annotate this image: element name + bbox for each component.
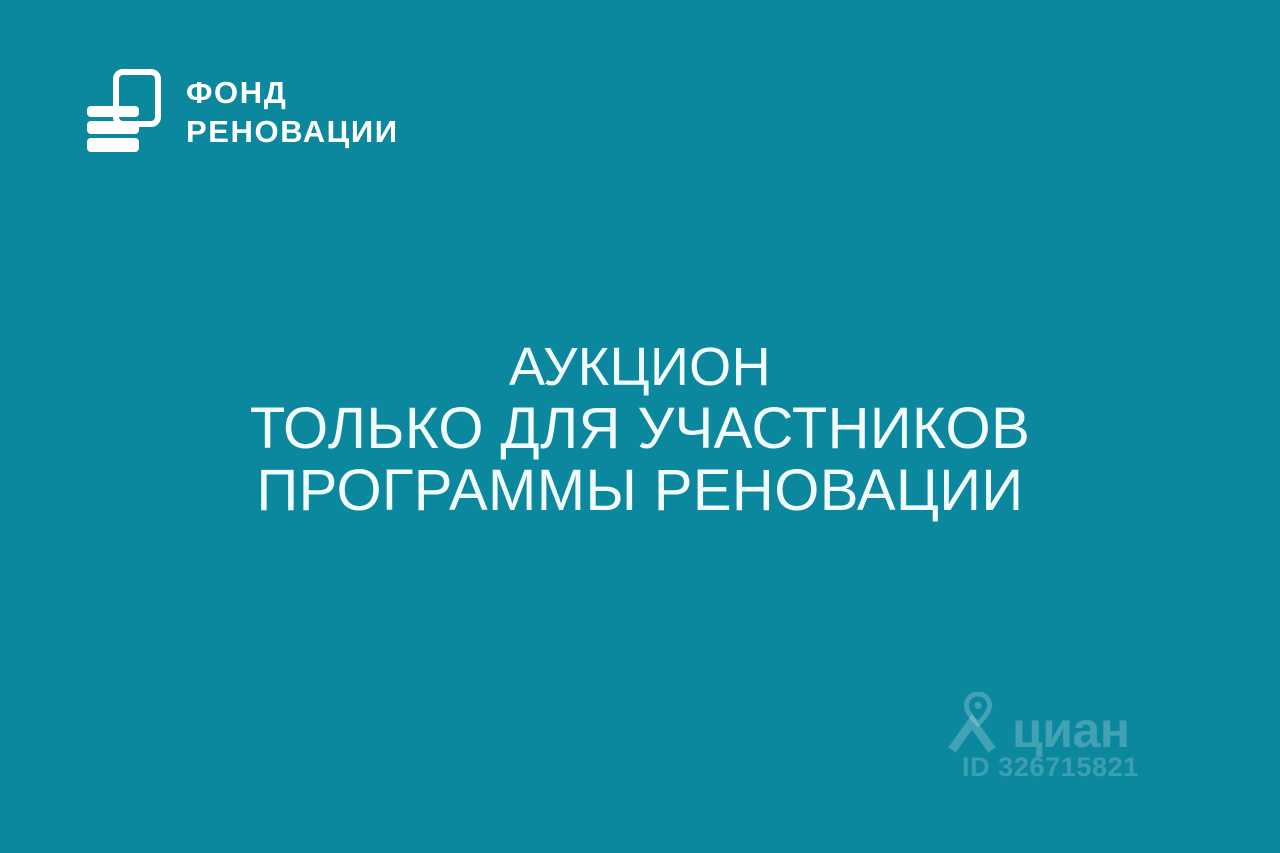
stacked-documents-icon (84, 68, 162, 156)
cian-wordmark: циан (1012, 706, 1129, 754)
map-pin-house-icon (948, 692, 1006, 754)
headline: АУКЦИОН ТОЛЬКО ДЛЯ УЧАСТНИКОВ ПРОГРАММЫ … (0, 336, 1280, 522)
promo-banner: ФОНД РЕНОВАЦИИ АУКЦИОН ТОЛЬКО ДЛЯ УЧАСТН… (0, 0, 1280, 853)
headline-line-1: АУКЦИОН (0, 336, 1280, 398)
cian-logo: циан (948, 692, 1129, 754)
headline-line-3: ПРОГРАММЫ РЕНОВАЦИИ (0, 460, 1280, 522)
brand-line-renovacii: РЕНОВАЦИИ (186, 116, 399, 147)
cian-watermark: циан ID 326715821 (948, 692, 1188, 792)
brand-logo: ФОНД РЕНОВАЦИИ (84, 68, 399, 156)
listing-id: ID 326715821 (962, 752, 1139, 783)
headline-line-2: ТОЛЬКО ДЛЯ УЧАСТНИКОВ (0, 398, 1280, 460)
brand-line-fond: ФОНД (186, 77, 399, 108)
brand-wordmark: ФОНД РЕНОВАЦИИ (186, 77, 399, 147)
